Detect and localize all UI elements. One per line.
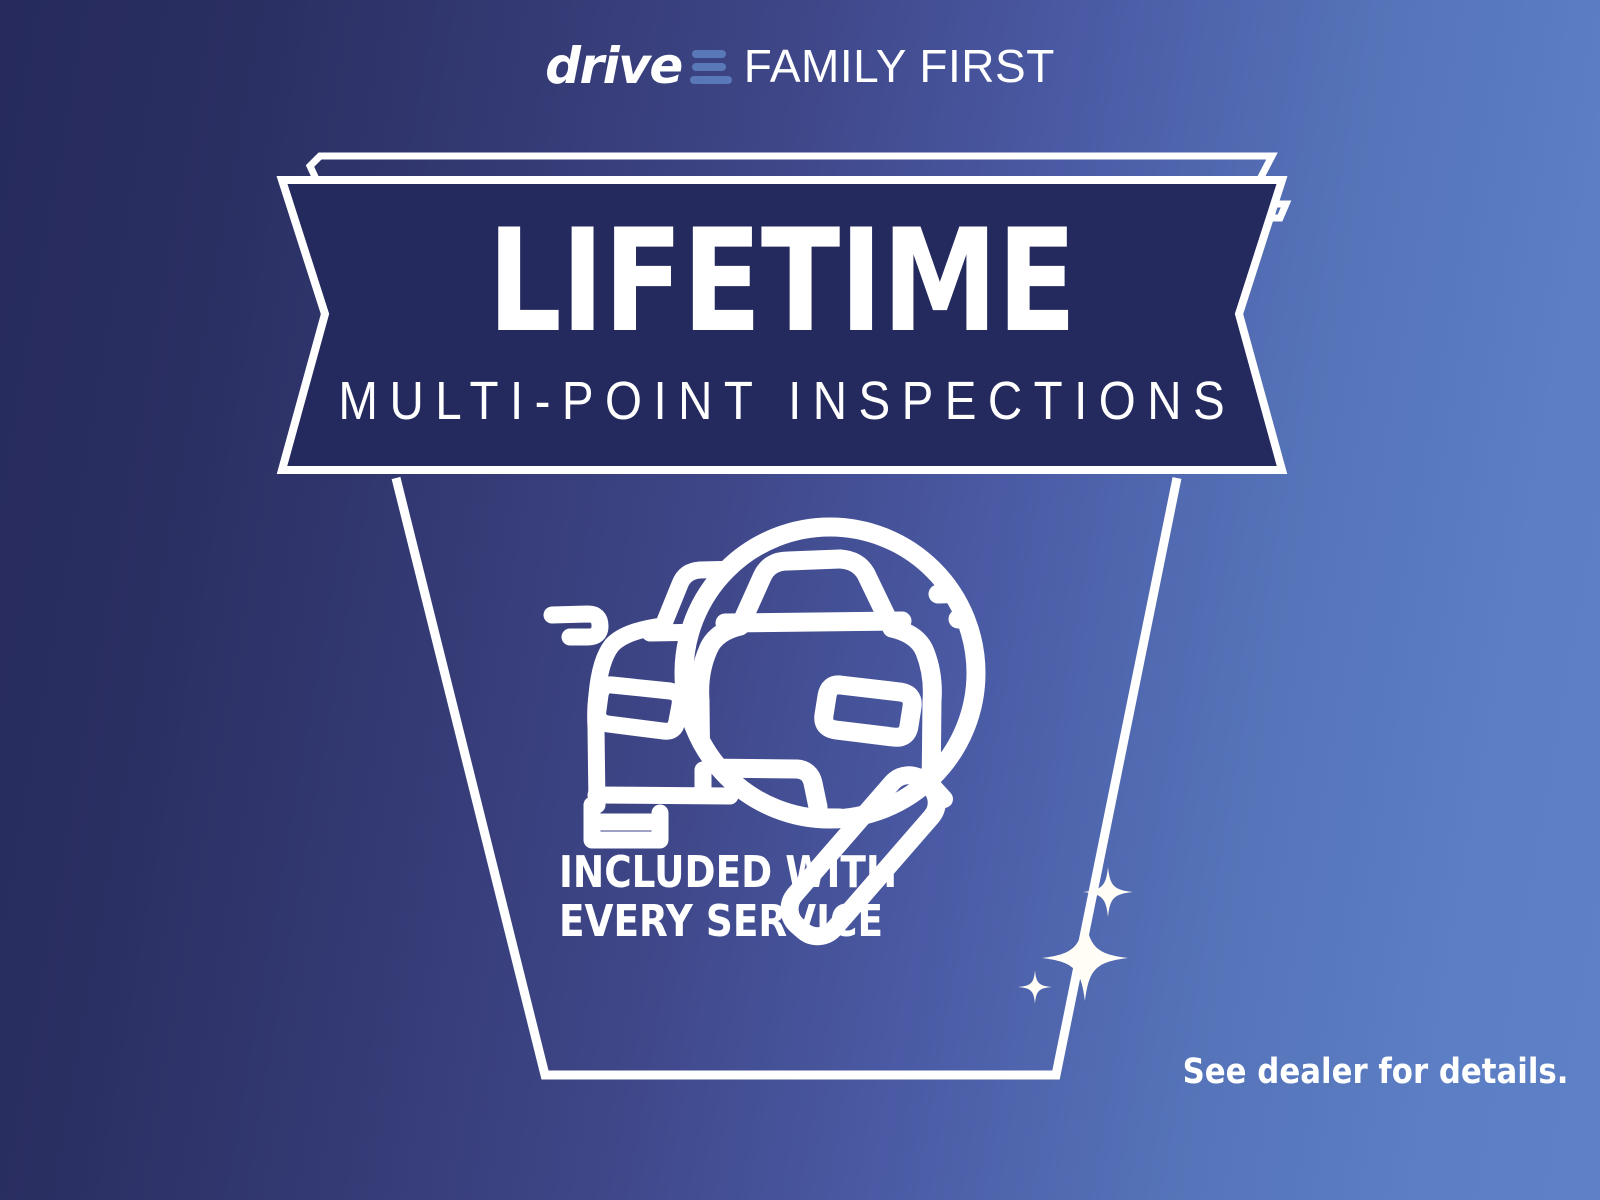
promo-poster: drive FAMILY FIRST LIFETIME MULTI-POINT … [0,0,1600,1200]
ribbon-banner: LIFETIME MULTI-POINT INSPECTIONS [272,140,1292,495]
headline-lifetime: LIFETIME [488,217,1076,348]
brand-bar: drive FAMILY FIRST [0,33,1600,97]
callout-included-with-every-service: INCLUDED WITH EVERY SERVICE [559,848,979,947]
callout-line-2: EVERY SERVICE [559,897,916,946]
brand-name-drive: drive [545,41,682,91]
sparkle-medium [1083,867,1133,917]
stacked-bars-icon-line-3 [690,76,732,84]
subheadline-multi-point-inspections: MULTI-POINT INSPECTIONS [327,374,1236,428]
sparkle-small [1018,970,1052,1004]
stacked-bars-icon-line-1 [692,50,726,58]
callout-line-1: INCLUDED WITH [559,848,916,897]
ribbon-text-group: LIFETIME MULTI-POINT INSPECTIONS [272,140,1292,495]
brand-name-family-first: FAMILY FIRST [744,43,1055,89]
disclaimer-text: See dealer for details. [1182,1052,1568,1092]
stacked-bars-icon-line-2 [692,63,726,71]
stacked-bars-icon [690,50,732,84]
sparkle-large [1042,915,1128,1001]
